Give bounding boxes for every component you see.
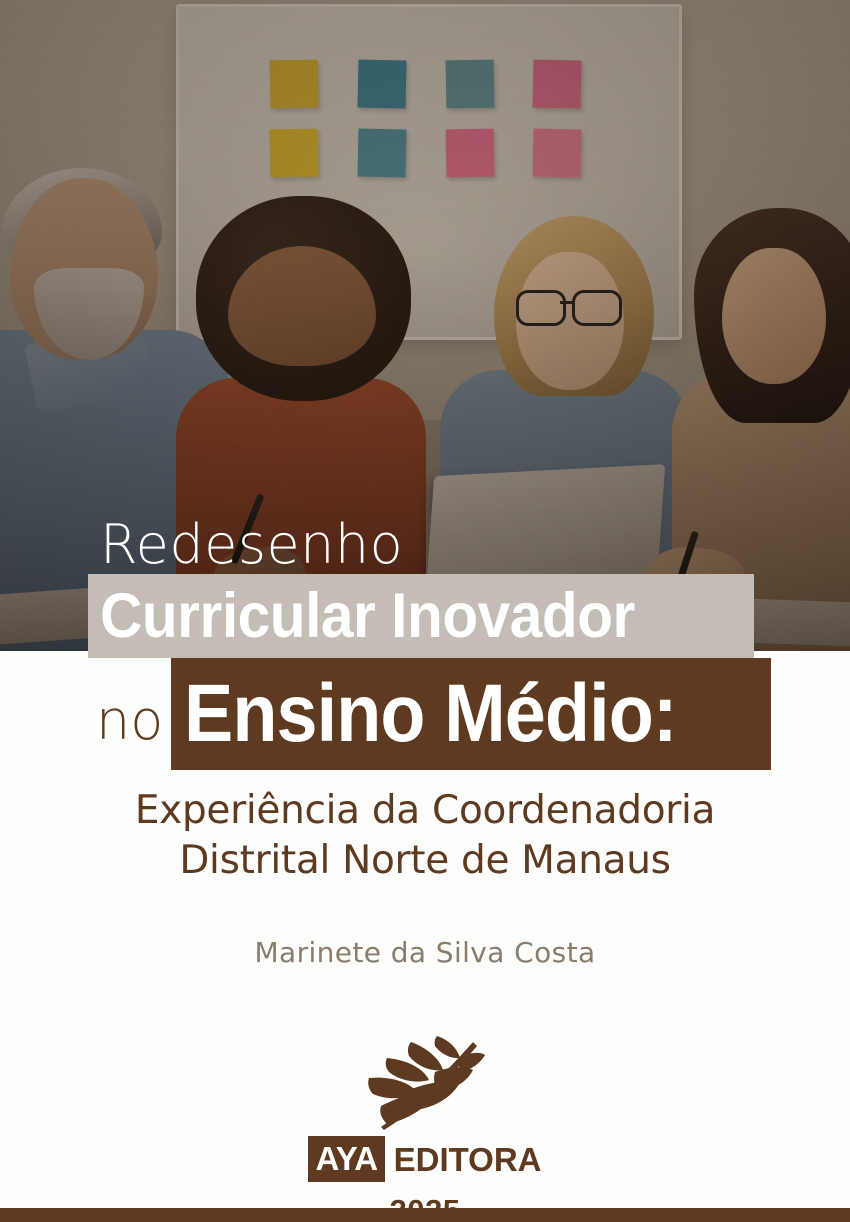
title-line-2: Curricular Inovador bbox=[100, 575, 705, 657]
subtitle: Experiência da Coordenadoria Distrital N… bbox=[0, 786, 850, 886]
bottom-accent-bar bbox=[0, 1208, 850, 1222]
publisher-wordmark: AYA EDITORA bbox=[308, 1136, 541, 1182]
subtitle-line-2: Distrital Norte de Manaus bbox=[0, 836, 850, 886]
fern-leaf-icon bbox=[365, 1034, 485, 1132]
title-line-1: Redesenho bbox=[100, 518, 403, 572]
publisher-logo: AYA EDITORA 2025 bbox=[0, 1034, 850, 1222]
title-preposition-no: no bbox=[96, 694, 163, 748]
publisher-name-aya: AYA bbox=[308, 1136, 384, 1182]
title-line-3: Ensino Médio: bbox=[184, 660, 715, 768]
publisher-name-editora: EDITORA bbox=[394, 1143, 542, 1176]
author-name: Marinete da Silva Costa bbox=[0, 936, 850, 969]
subtitle-line-1: Experiência da Coordenadoria bbox=[0, 786, 850, 836]
book-cover: Redesenho Curricular Inovador no Ensino … bbox=[0, 0, 850, 1222]
